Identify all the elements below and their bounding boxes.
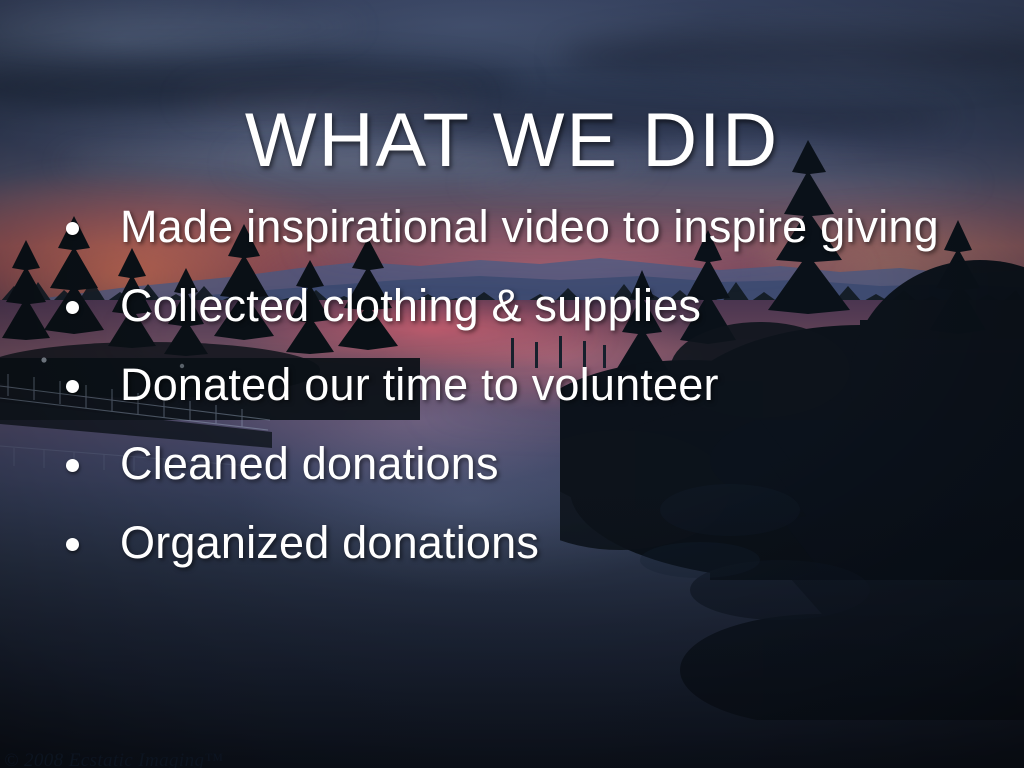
- bullet-dot-icon: [66, 301, 79, 314]
- bullet-item: Organized donations: [56, 512, 1006, 574]
- bullet-item: Made inspirational video to inspire givi…: [56, 196, 1006, 258]
- bullet-text: Donated our time to volunteer: [120, 359, 719, 410]
- bullet-item: Cleaned donations: [56, 433, 1006, 495]
- bullet-text: Made inspirational video to inspire givi…: [120, 201, 939, 252]
- bullet-text: Cleaned donations: [120, 438, 499, 489]
- slide-content: WHAT WE DID Made inspirational video to …: [0, 0, 1024, 768]
- presentation-slide: WHAT WE DID Made inspirational video to …: [0, 0, 1024, 768]
- bullet-dot-icon: [66, 459, 79, 472]
- bullet-dot-icon: [66, 380, 79, 393]
- bullet-list: Made inspirational video to inspire givi…: [56, 196, 1006, 591]
- copyright-watermark: © 2008 Ecstatic Imaging™: [4, 750, 223, 768]
- bullet-text: Collected clothing & supplies: [120, 280, 701, 331]
- bullet-item: Collected clothing & supplies: [56, 275, 1006, 337]
- slide-title: WHAT WE DID: [0, 103, 1024, 179]
- bullet-text: Organized donations: [120, 517, 539, 568]
- bullet-dot-icon: [66, 538, 79, 551]
- bullet-item: Donated our time to volunteer: [56, 354, 1006, 416]
- bullet-dot-icon: [66, 222, 79, 235]
